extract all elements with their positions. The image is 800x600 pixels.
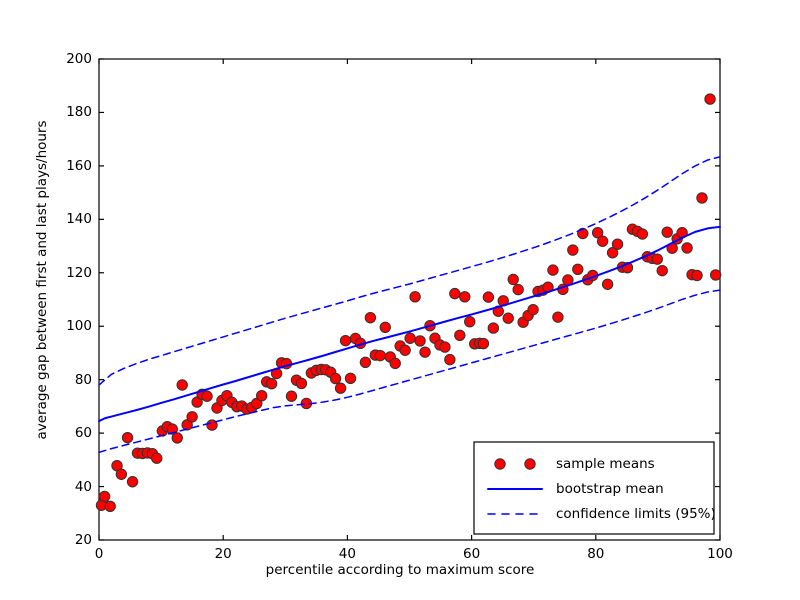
data-point: [375, 350, 385, 360]
data-point: [420, 347, 430, 357]
y-tick-label: 100: [66, 318, 92, 334]
y-tick-label: 120: [66, 265, 92, 281]
data-point: [657, 265, 667, 275]
data-point: [548, 265, 558, 275]
x-tick-label: 40: [339, 546, 356, 562]
data-point: [705, 94, 715, 104]
data-point: [652, 254, 662, 264]
data-point: [105, 501, 115, 511]
data-point: [177, 380, 187, 390]
data-point: [345, 373, 355, 383]
data-point: [445, 354, 455, 364]
x-tick-label: 60: [463, 546, 480, 562]
data-point: [478, 338, 488, 348]
y-tick-label: 160: [66, 158, 92, 174]
data-point: [330, 373, 340, 383]
x-axis-label: percentile according to maximum score: [0, 562, 800, 578]
data-point: [488, 323, 498, 333]
y-tick-label: 80: [75, 372, 92, 388]
y-axis-label: average gap between first and last plays…: [34, 40, 50, 520]
data-point: [365, 312, 375, 322]
x-tick-label: 20: [215, 546, 232, 562]
data-point: [415, 336, 425, 346]
data-point: [390, 358, 400, 368]
data-point: [335, 383, 345, 393]
x-tick-label: 80: [587, 546, 604, 562]
data-point: [257, 391, 267, 401]
data-point: [692, 270, 702, 280]
data-point: [450, 288, 460, 298]
legend-marker-icon: [495, 459, 505, 469]
data-point: [202, 391, 212, 401]
data-point: [697, 193, 707, 203]
data-point: [172, 433, 182, 443]
data-point: [465, 316, 475, 326]
data-point: [410, 292, 420, 302]
figure: percentile according to maximum score av…: [0, 0, 800, 600]
data-point: [528, 304, 538, 314]
data-point: [187, 412, 197, 422]
legend-item-label: confidence limits (95%): [556, 506, 716, 522]
data-point: [573, 264, 583, 274]
data-point: [152, 453, 162, 463]
data-point: [405, 333, 415, 343]
y-tick-label: 200: [66, 51, 92, 67]
data-point: [296, 378, 306, 388]
data-point: [99, 491, 109, 501]
legend-item-label: bootstrap mean: [556, 481, 664, 497]
data-point: [513, 284, 523, 294]
data-point: [455, 330, 465, 340]
data-point: [503, 313, 513, 323]
data-point: [440, 342, 450, 352]
data-point: [682, 243, 692, 253]
data-point: [340, 335, 350, 345]
data-point: [380, 322, 390, 332]
data-point: [710, 270, 720, 280]
data-point: [400, 345, 410, 355]
y-tick-label: 60: [75, 425, 92, 441]
data-point: [286, 391, 296, 401]
data-point: [597, 236, 607, 246]
x-tick-label: 100: [707, 546, 733, 562]
y-tick-label: 40: [75, 479, 92, 495]
data-point: [360, 357, 370, 367]
data-point: [637, 229, 647, 239]
y-tick-label: 180: [66, 104, 92, 120]
x-tick-label: 0: [95, 546, 104, 562]
y-tick-label: 140: [66, 211, 92, 227]
data-point: [460, 292, 470, 302]
data-point: [662, 227, 672, 237]
data-point: [553, 312, 563, 322]
data-point: [508, 274, 518, 284]
legend-item-label: sample means: [556, 456, 655, 472]
data-point: [127, 477, 137, 487]
data-point: [266, 378, 276, 388]
y-tick-label: 20: [75, 532, 92, 548]
data-point: [122, 432, 132, 442]
data-point: [116, 469, 126, 479]
data-point: [612, 239, 622, 249]
legend-marker-icon: [525, 459, 535, 469]
data-point: [602, 279, 612, 289]
data-point: [483, 292, 493, 302]
data-point: [568, 245, 578, 255]
